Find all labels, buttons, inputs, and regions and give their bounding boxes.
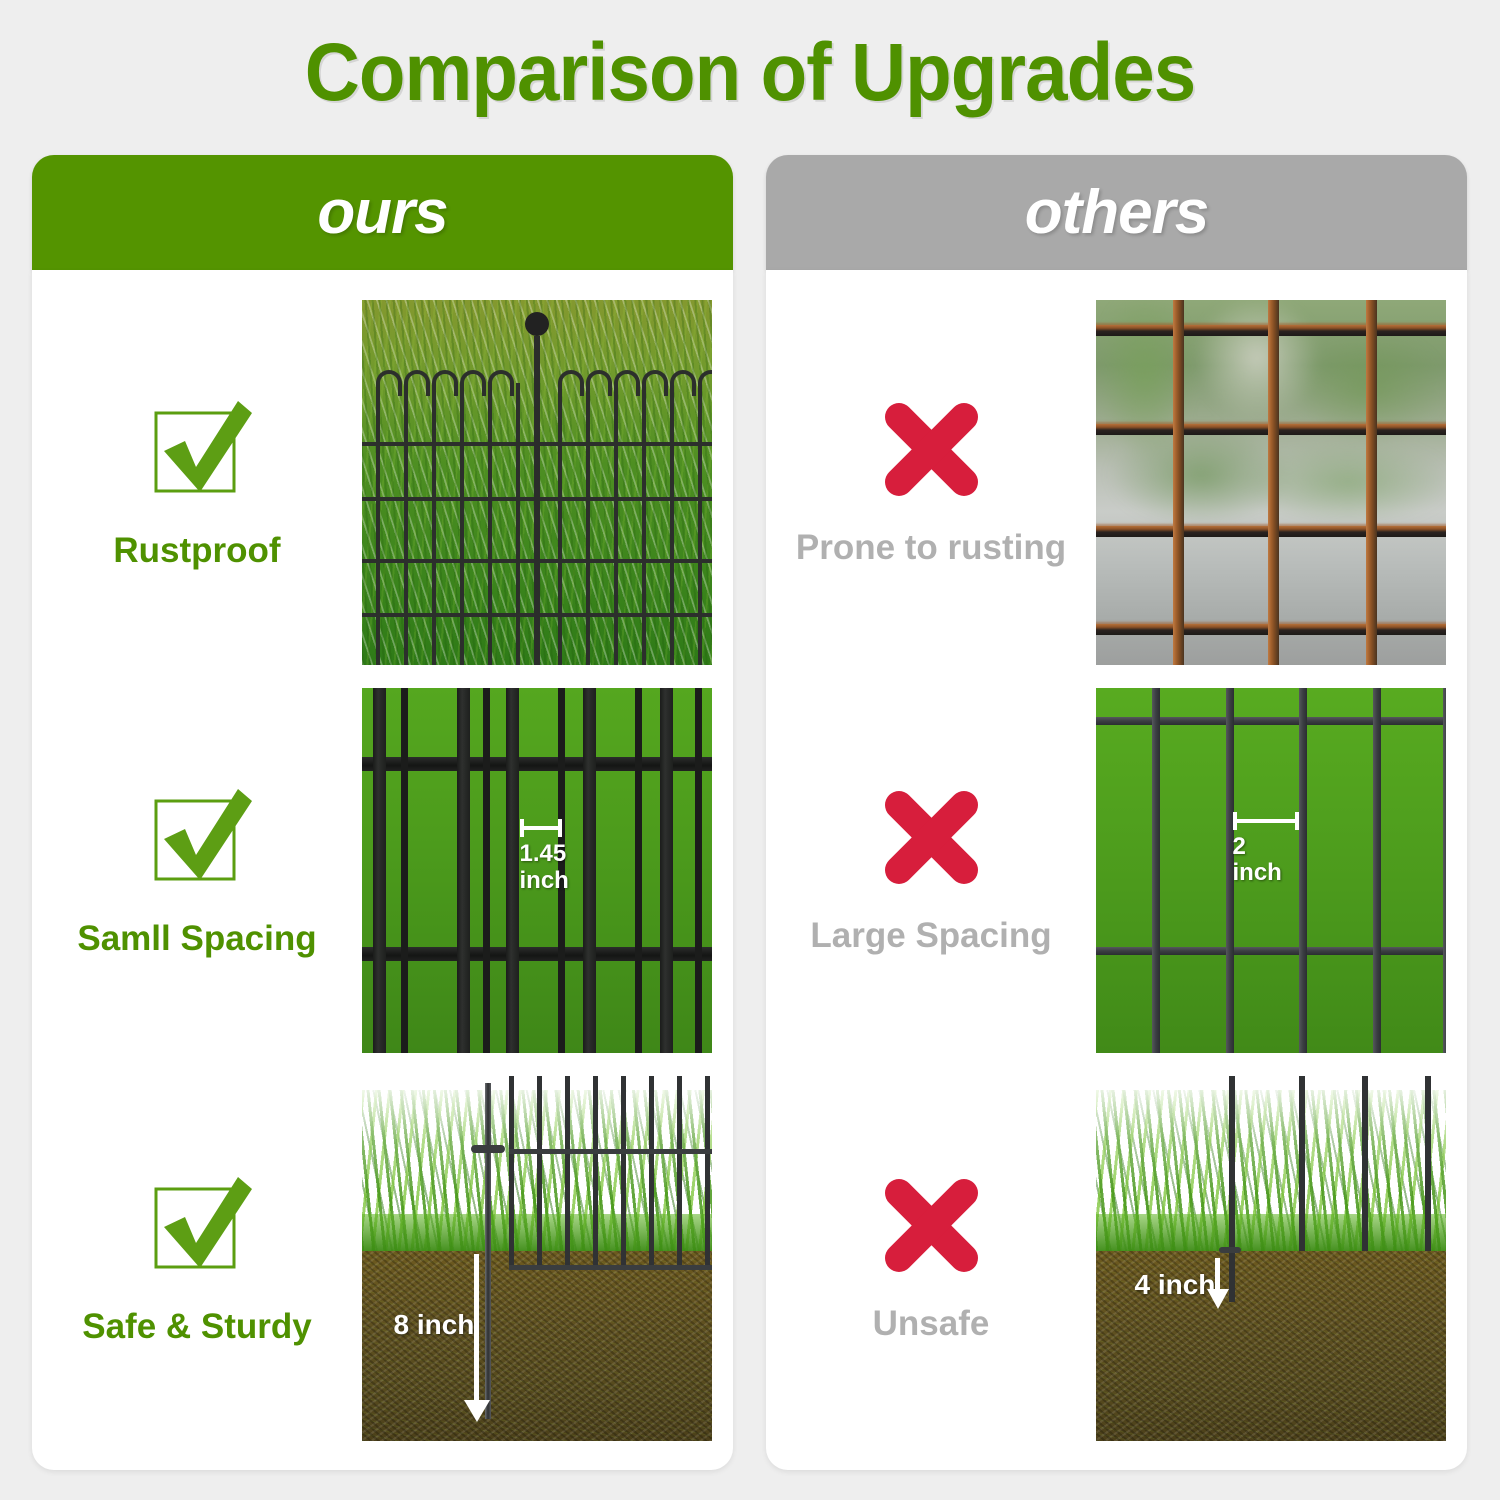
red-x-icon [879,1173,984,1278]
feature-label-prone-to-rusting: Prone to rusting [796,528,1066,568]
page-title: Comparison of Upgrades [53,28,1448,118]
feature-row-prone-to-rusting: Prone to rusting [766,292,1467,672]
feature-label-unsafe: Unsafe [873,1304,990,1344]
dimension-value: 1.45 [520,841,562,868]
large-spacing-photo: 2 inch [1096,688,1446,1053]
rusty-mesh-photo [1096,300,1446,665]
feature-row-large-spacing: Large Spacing 2 inch [766,680,1467,1060]
rain-fence-photo [362,300,712,665]
column-header-label-ours: ours [317,177,447,248]
feature-label-small-spacing: Samll Spacing [77,919,316,959]
feature-left-large-spacing: Large Spacing [766,785,1096,956]
deep-stake-photo: 8 inch [362,1076,712,1441]
feature-left-safe-sturdy: Safe & Sturdy [32,1169,362,1347]
red-x-icon [879,397,984,502]
depth-annotation-4-inch: 4 inch [1135,1269,1216,1301]
small-spacing-photo: 1.45 inch [362,688,712,1053]
feature-row-unsafe: Unsafe 4 inch [766,1068,1467,1448]
feature-label-safe-sturdy: Safe & Sturdy [82,1307,312,1347]
column-ours: ours Rustproof [32,155,733,1470]
dimension-annotation-2-inch: 2 inch [1233,812,1299,888]
column-header-label-others: others [1025,177,1208,248]
comparison-columns: ours Rustproof [32,155,1468,1470]
red-x-icon [879,785,984,890]
column-header-others: others [766,155,1467,270]
dimension-unit: inch [520,868,562,895]
dimension-value: 2 inch [1233,834,1299,888]
feature-label-rustproof: Rustproof [113,531,280,571]
check-box-icon [138,393,256,505]
feature-left-prone-to-rusting: Prone to rusting [766,397,1096,568]
depth-arrow-icon [1205,1258,1231,1309]
check-box-icon [138,1169,256,1281]
shallow-stake-photo: 4 inch [1096,1076,1446,1441]
feature-left-rustproof: Rustproof [32,393,362,571]
column-body-others: Prone to rusting [766,270,1467,1470]
feature-row-small-spacing: Samll Spacing [32,680,733,1060]
column-header-ours: ours [32,155,733,270]
depth-label: 4 inch [1135,1269,1216,1301]
comparison-infographic: Comparison of Upgrades ours [0,0,1500,1500]
column-others: others Prone to [766,155,1467,1470]
dimension-annotation-1-45-inch: 1.45 inch [520,819,562,895]
check-box-icon [138,781,256,893]
column-body-ours: Rustproof [32,270,733,1470]
feature-left-unsafe: Unsafe [766,1173,1096,1344]
feature-label-large-spacing: Large Spacing [810,916,1051,956]
feature-row-safe-sturdy: Safe & Sturdy [32,1068,733,1448]
depth-label: 8 inch [394,1309,475,1341]
feature-row-rustproof: Rustproof [32,292,733,672]
depth-arrow-icon [464,1254,490,1422]
feature-left-small-spacing: Samll Spacing [32,781,362,959]
depth-annotation-8-inch: 8 inch [394,1309,475,1341]
